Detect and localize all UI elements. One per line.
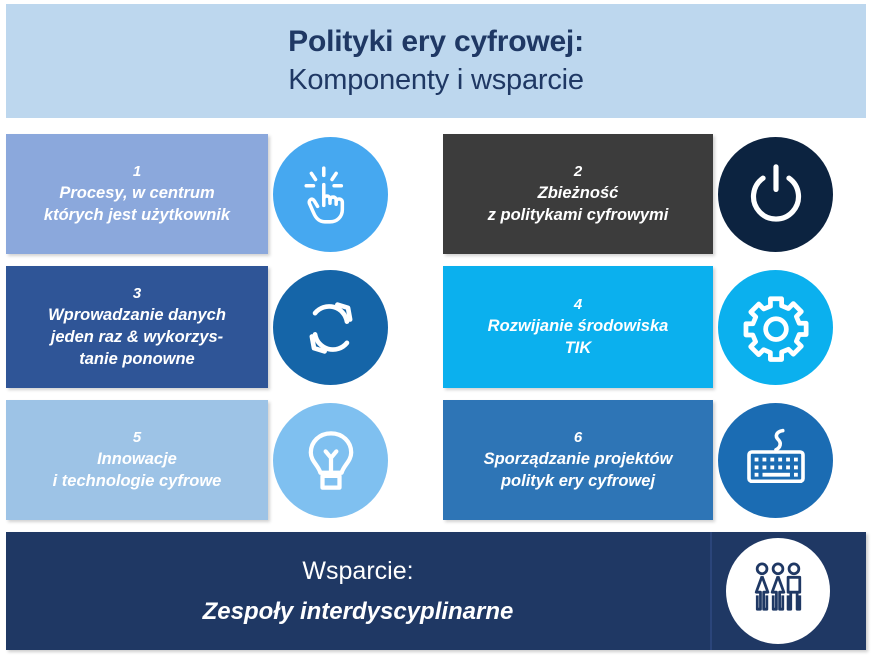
component-label-1: Procesy, w centrum których jest użytkown… [34,183,240,227]
component-card-2: 2 Zbieżność z politykami cyfrowymi [443,134,713,254]
component-card-6: 6 Sporządzanie projektów polityk ery cyf… [443,400,713,520]
page-subtitle: Komponenty i wsparcie [288,62,584,98]
header-banner: Polityki ery cyfrowej: Komponenty i wspa… [6,4,866,118]
support-label: Wsparcie: [302,555,413,588]
component-card-3: 3 Wprowadzanie danych jeden raz & wykorz… [6,266,268,388]
component-number-2: 2 [574,162,582,182]
component-number-4: 4 [574,295,582,315]
component-label-3: Wprowadzanie danych jeden raz & wykorzys… [38,305,236,370]
component-label-4: Rozwijanie środowiska TIK [478,316,679,360]
tap-finger-icon [298,162,364,228]
keyboard-icon [740,425,812,497]
support-text-block: Wsparcie: Zespoły interdyscyplinarne [6,532,710,650]
component-icon-circle-2 [718,137,833,252]
component-card-4: 4 Rozwijanie środowiska TIK [443,266,713,388]
component-card-1: 1 Procesy, w centrum których jest użytko… [6,134,268,254]
support-value: Zespoły interdyscyplinarne [203,596,514,627]
component-label-6: Sporządzanie projektów polityk ery cyfro… [474,449,683,493]
component-number-6: 6 [574,428,582,448]
lightbulb-icon [297,427,365,495]
component-label-2: Zbieżność z politykami cyfrowymi [478,183,679,227]
gear-icon [740,292,812,364]
component-number-1: 1 [133,162,141,182]
refresh-cycle-icon [297,294,365,362]
component-icon-circle-3 [273,270,388,385]
component-label-5: Innowacje i technologie cyfrowe [43,449,232,493]
three-people-icon [744,555,812,628]
power-button-icon [740,159,812,231]
infographic-canvas: Polityki ery cyfrowej: Komponenty i wspa… [0,0,874,657]
footer-divider [710,532,712,650]
component-icon-circle-4 [718,270,833,385]
component-number-3: 3 [133,284,141,304]
component-icon-circle-6 [718,403,833,518]
page-title: Polityki ery cyfrowej: [288,24,584,59]
support-icon-circle [726,538,830,644]
component-number-5: 5 [133,428,141,448]
component-card-5: 5 Innowacje i technologie cyfrowe [6,400,268,520]
component-icon-circle-1 [273,137,388,252]
component-icon-circle-5 [273,403,388,518]
